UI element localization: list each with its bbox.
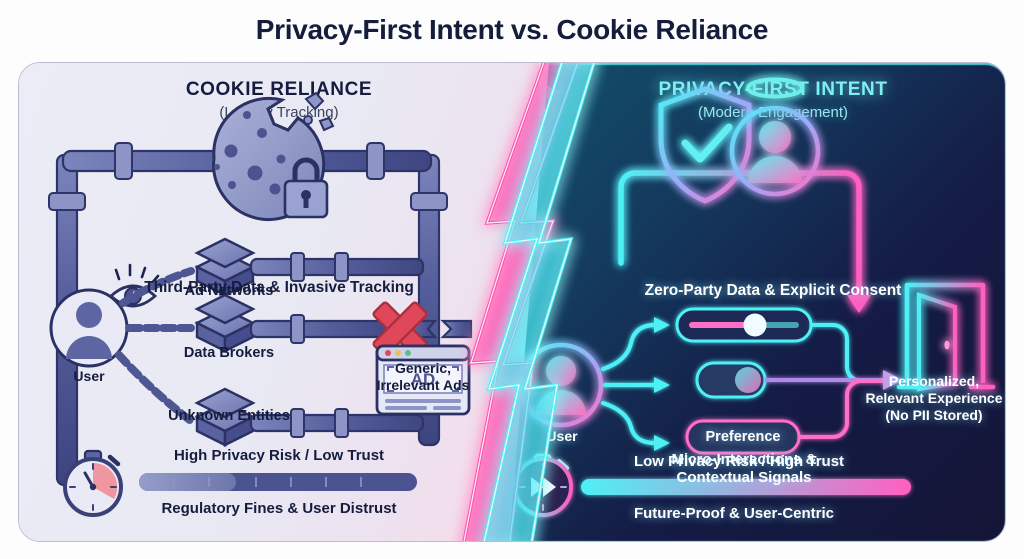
left-outcome-line2: Irrelevant Ads xyxy=(377,377,470,393)
haloed-user-icon xyxy=(732,80,818,195)
outcome-line3: (No PII Stored) xyxy=(885,407,982,423)
arrow-heads xyxy=(654,317,670,451)
left-meter-bottom-label: Regulatory Fines & User Distrust xyxy=(109,500,449,518)
intermediary-label-1: Data Brokers xyxy=(139,345,319,363)
lightning-bolt-divider xyxy=(459,63,599,542)
preference-pill-label[interactable]: Preference xyxy=(687,427,799,447)
right-meter-bottom-label: Future-Proof & User-Centric xyxy=(559,505,909,523)
outcome-line1: Personalized, xyxy=(889,373,979,389)
signal-arrows xyxy=(603,325,655,443)
page-title: Privacy-First Intent vs. Cookie Reliance xyxy=(0,14,1024,46)
intermediary-label-0: Ad Networks xyxy=(139,283,319,301)
right-top-label: Zero-Party Data & Explicit Consent xyxy=(539,282,1006,301)
slider-icon[interactable] xyxy=(677,309,811,341)
toggle-switch-icon[interactable] xyxy=(697,363,765,397)
comparison-board: COOKIE RELIANCE (Legacy Tracking) xyxy=(18,62,1006,542)
right-meter-top-label: Low Privacy Risk / High Trust xyxy=(569,453,909,471)
left-meter-top-label: High Privacy Risk / Low Trust xyxy=(129,447,429,465)
intermediary-label-2: Unknown Entities xyxy=(129,408,329,426)
left-user-label: User xyxy=(49,368,129,385)
left-outcome-line1: Generic, xyxy=(395,360,451,376)
signals-line2: Contextual Signals xyxy=(676,469,811,486)
shield-check-icon xyxy=(661,89,749,201)
outcome-line2: Relevant Experience xyxy=(866,390,1003,406)
right-outcome-label: Personalized, Relevant Experience (No PI… xyxy=(861,373,1006,424)
